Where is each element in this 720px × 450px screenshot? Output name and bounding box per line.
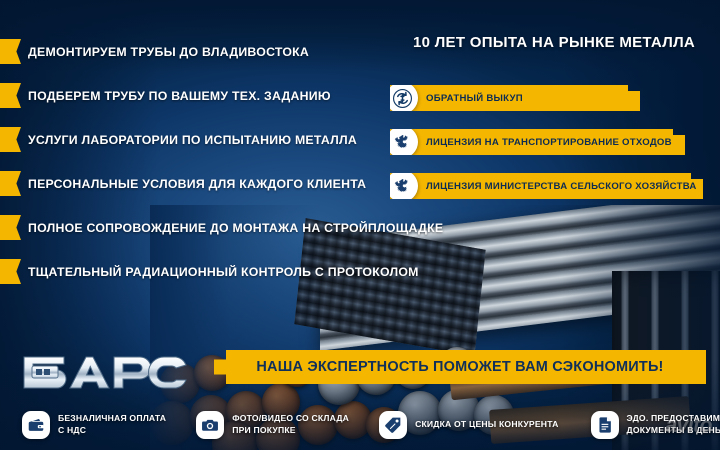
list-item: ТЩАТЕЛЬНЫЙ РАДИАЦИОННЫЙ КОНТРОЛЬ С ПРОТО… <box>0 250 360 294</box>
page-title: 10 ЛЕТ ОПЫТА НА РЫНКЕ МЕТАЛЛА <box>404 34 704 51</box>
badge-label: ЛИЦЕНЗИЯ МИНИСТЕРСТВА СЕЛЬСКОГО ХОЗЯЙСТВ… <box>426 181 697 192</box>
list-item-label: ТЩАТЕЛЬНЫЙ РАДИАЦИОННЫЙ КОНТРОЛЬ С ПРОТО… <box>28 265 419 279</box>
badge-buyback: ОБРАТНЫЙ ВЫКУП <box>390 85 640 111</box>
feature-label: ФОТО/ВИДЕО СО СКЛАДА ПРИ ПОКУПКЕ <box>232 413 349 436</box>
list-item-label: УСЛУГИ ЛАБОРАТОРИИ ПО ИСПЫТАНИЮ МЕТАЛЛА <box>28 133 357 147</box>
feature-cashless-payment: БЕЗНАЛИЧНАЯ ОПЛАТА С НДС <box>22 411 166 439</box>
flag-marker-icon <box>0 39 21 64</box>
list-item-label: ПОДБЕРЕМ ТРУБУ ПО ВАШЕМУ ТЕХ. ЗАДАНИЮ <box>28 89 331 103</box>
feature-competitor-discount: СКИДКА ОТ ЦЕНЫ КОНКУРЕНТА <box>379 411 558 439</box>
camera-icon <box>196 411 224 439</box>
feature-edo-documents: ЭДО. ПРЕДОСТАВИМ ДОКУМЕНТЫ В ДЕНЬ СДЕЛКИ <box>591 411 720 439</box>
metal-pipes-advertising-banner: ДЕМОНТИРУЕМ ТРУБЫ ДО ВЛАДИВОСТОКА ПОДБЕР… <box>0 0 720 450</box>
credentials-badge-list: ОБРАТНЫЙ ВЫКУП ЛИЦЕНЗИЯ НА ТРАНСПОРТИРОВ… <box>390 85 703 217</box>
badge-label: ОБРАТНЫЙ ВЫКУП <box>426 93 523 104</box>
badge-label: ЛИЦЕНЗИЯ НА ТРАНСПОРТИРОВАНИЕ ОТХОДОВ <box>426 137 672 148</box>
cta-label: НАША ЭКСПЕРТНОСТЬ ПОМОЖЕТ ВАМ СЭКОНОМИТЬ… <box>256 359 663 375</box>
price-tag-icon <box>379 411 407 439</box>
features-strip: БЕЗНАЛИЧНАЯ ОПЛАТА С НДС ФОТО/ВИДЕО СО С… <box>0 400 720 450</box>
list-item-label: ПЕРСОНАЛЬНЫЕ УСЛОВИЯ ДЛЯ КАЖДОГО КЛИЕНТА <box>28 177 366 191</box>
company-logo[interactable] <box>18 345 203 393</box>
flag-marker-icon <box>0 83 21 108</box>
flag-marker-icon <box>0 127 21 152</box>
badge-waste-transport-license: ЛИЦЕНЗИЯ НА ТРАНСПОРТИРОВАНИЕ ОТХОДОВ <box>390 129 685 155</box>
feature-photo-video: ФОТО/ВИДЕО СО СКЛАДА ПРИ ПОКУПКЕ <box>196 411 349 439</box>
document-icon <box>591 411 619 439</box>
flag-marker-icon <box>0 259 21 284</box>
buyback-arrows-icon <box>386 82 418 114</box>
list-item-label: ДЕМОНТИРУЕМ ТРУБЫ ДО ВЛАДИВОСТОКА <box>28 45 309 59</box>
list-item: ДЕМОНТИРУЕМ ТРУБЫ ДО ВЛАДИВОСТОКА <box>0 30 360 74</box>
list-item: УСЛУГИ ЛАБОРАТОРИИ ПО ИСПЫТАНИЮ МЕТАЛЛА <box>0 118 360 162</box>
list-item: ПОДБЕРЕМ ТРУБУ ПО ВАШЕМУ ТЕХ. ЗАДАНИЮ <box>0 74 360 118</box>
feature-label: БЕЗНАЛИЧНАЯ ОПЛАТА С НДС <box>58 413 166 436</box>
benefits-list: ДЕМОНТИРУЕМ ТРУБЫ ДО ВЛАДИВОСТОКА ПОДБЕР… <box>0 30 360 294</box>
feature-label: ЭДО. ПРЕДОСТАВИМ ДОКУМЕНТЫ В ДЕНЬ СДЕЛКИ <box>627 413 720 436</box>
double-eagle-emblem-icon <box>386 170 418 202</box>
flag-marker-icon <box>0 215 21 240</box>
double-eagle-emblem-icon <box>386 126 418 158</box>
list-item: ПЕРСОНАЛЬНЫЕ УСЛОВИЯ ДЛЯ КАЖДОГО КЛИЕНТА <box>0 162 360 206</box>
feature-label: СКИДКА ОТ ЦЕНЫ КОНКУРЕНТА <box>415 419 558 431</box>
badge-agriculture-ministry-license: ЛИЦЕНЗИЯ МИНИСТЕРСТВА СЕЛЬСКОГО ХОЗЯЙСТВ… <box>390 173 703 199</box>
list-item: ПОЛНОЕ СОПРОВОЖДЕНИЕ ДО МОНТАЖА НА СТРОЙ… <box>0 206 360 250</box>
list-item-label: ПОЛНОЕ СОПРОВОЖДЕНИЕ ДО МОНТАЖА НА СТРОЙ… <box>28 221 443 235</box>
cta-banner[interactable]: НАША ЭКСПЕРТНОСТЬ ПОМОЖЕТ ВАМ СЭКОНОМИТЬ… <box>214 350 706 384</box>
flag-marker-icon <box>0 171 21 196</box>
pipe-valve-logo-icon <box>18 346 200 392</box>
wallet-card-icon <box>22 411 50 439</box>
